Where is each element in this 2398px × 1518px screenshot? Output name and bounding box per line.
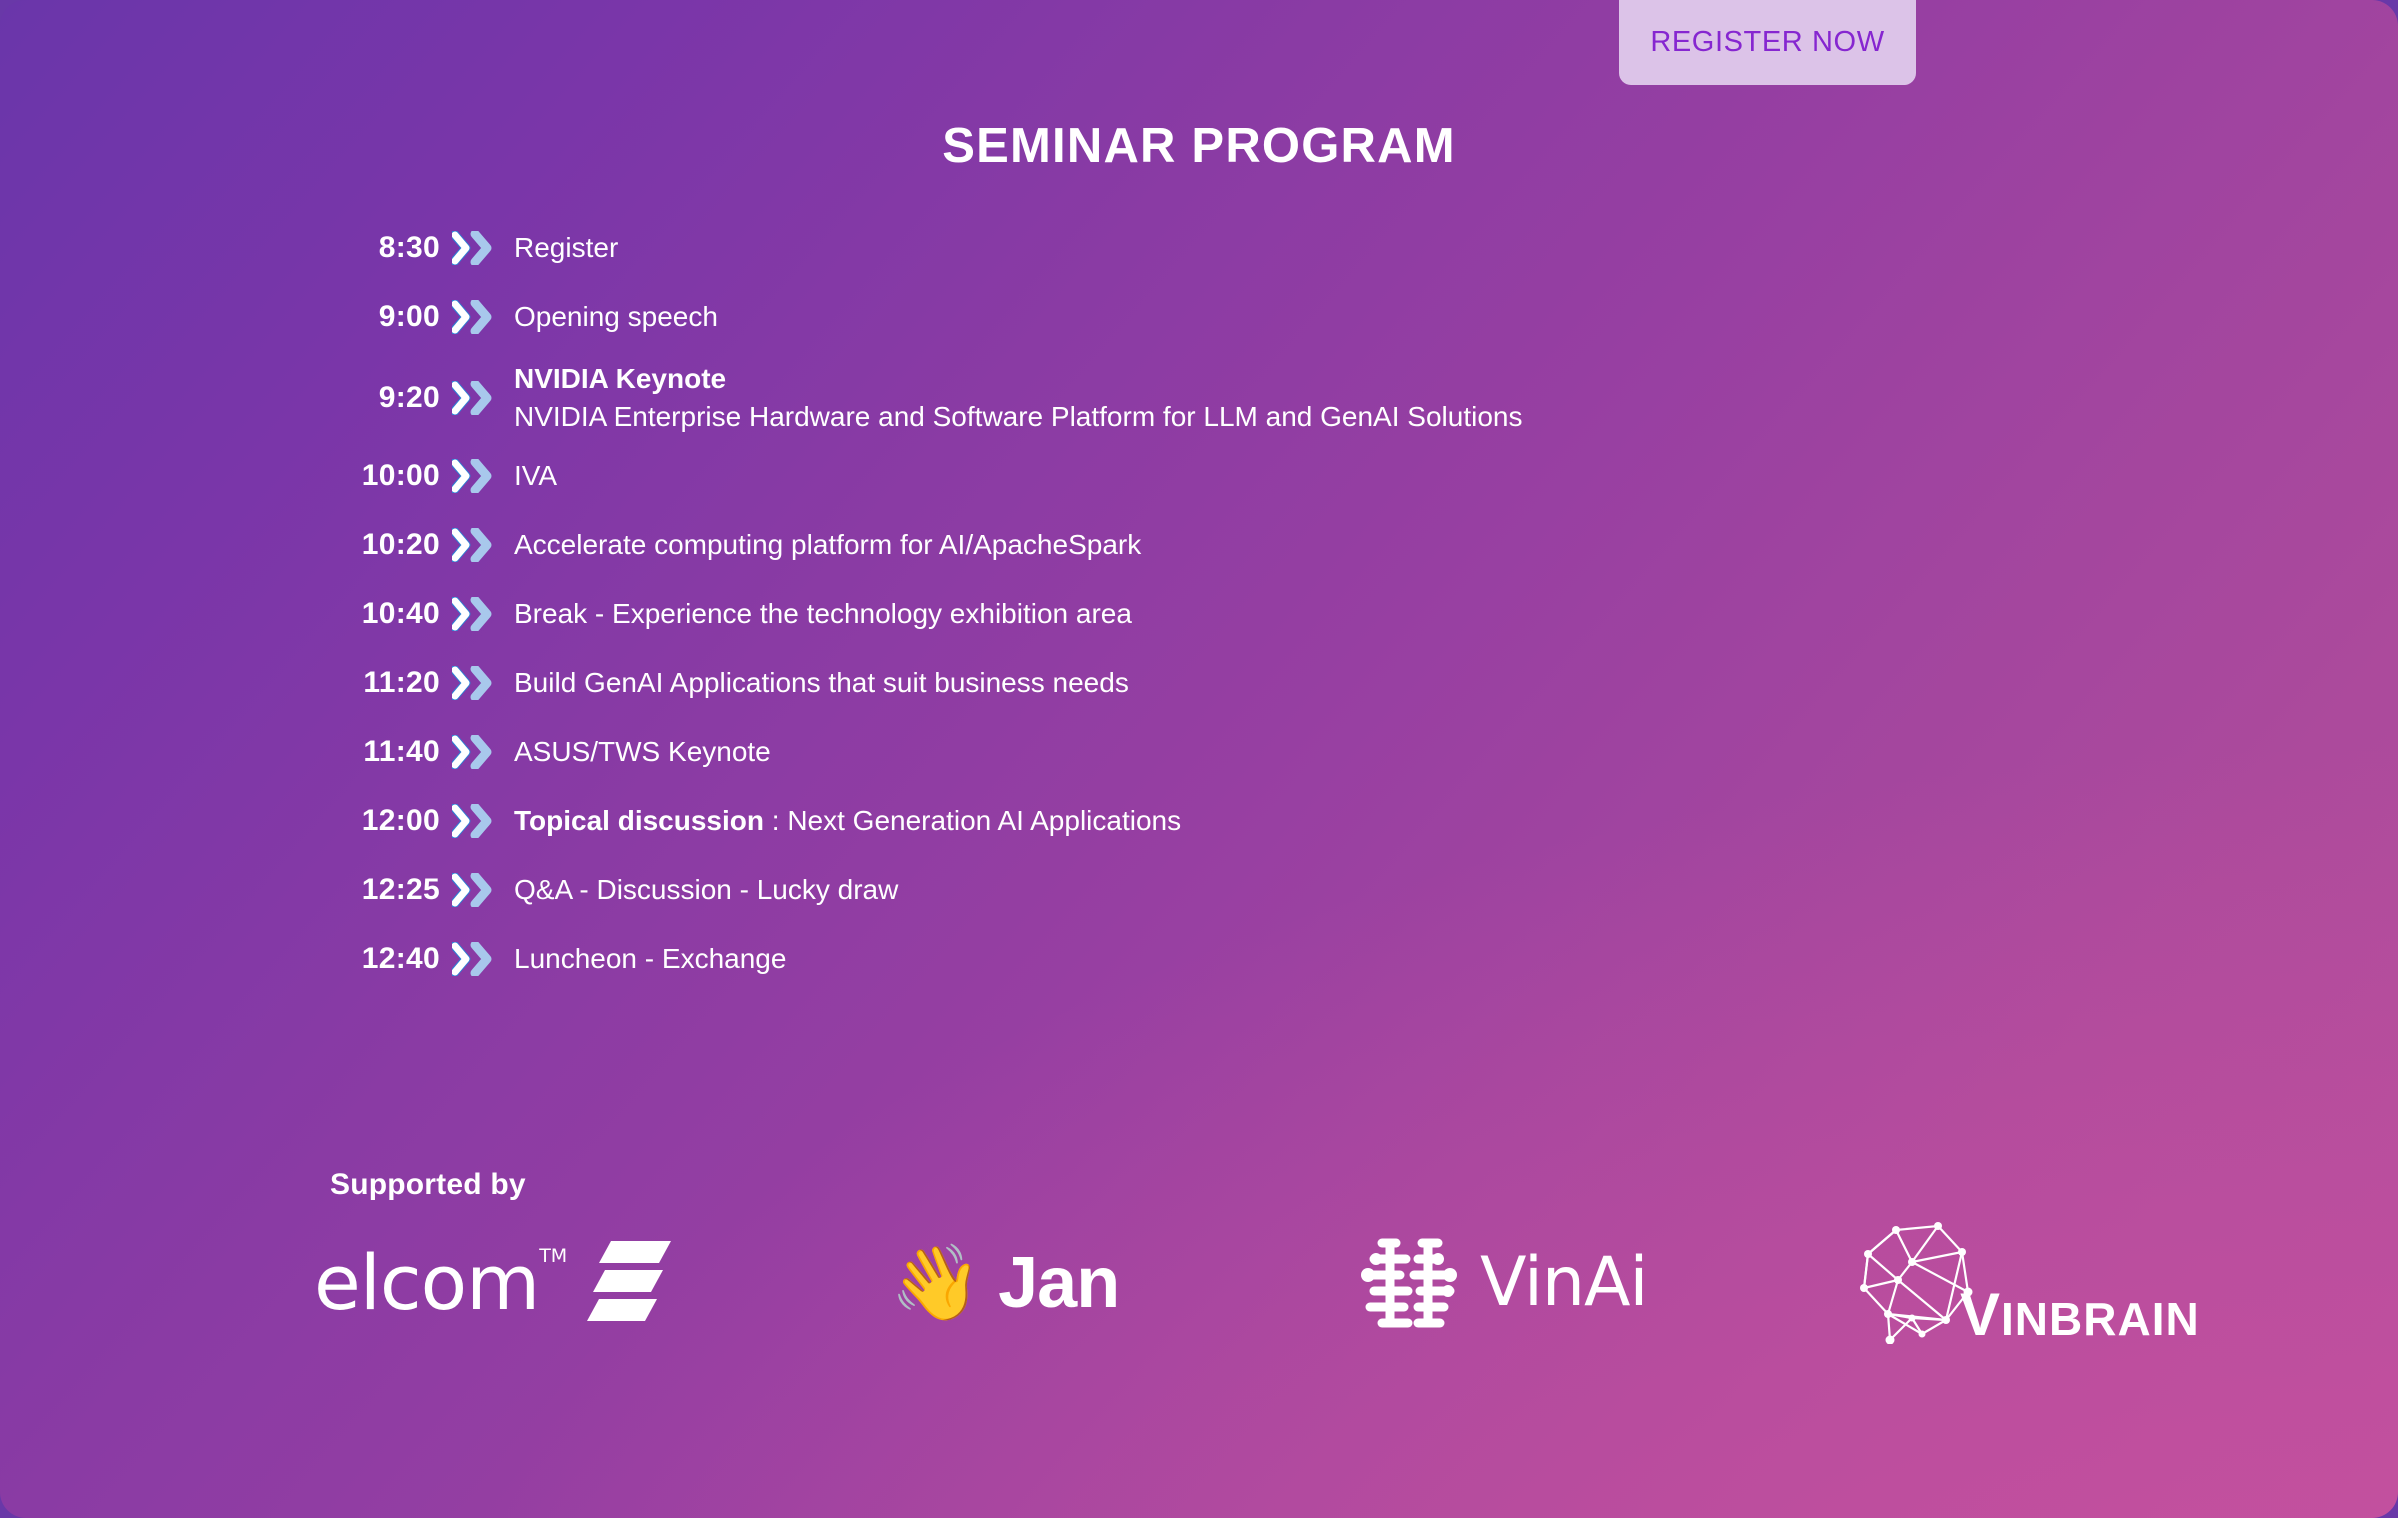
double-chevron-icon (440, 942, 510, 976)
row-text: IVA (510, 457, 1930, 495)
double-chevron-icon (440, 528, 510, 562)
row-time: 11:20 (330, 666, 440, 700)
program-row: 10:40 Break - Experience the technology … (330, 588, 1930, 640)
row-text: Build GenAI Applications that suit busin… (510, 664, 1930, 702)
program-row: 12:25 Q&A - Discussion - Lucky draw (330, 864, 1930, 916)
elcom-e-mark-icon (585, 1239, 671, 1328)
trademark-icon: TM (539, 1247, 567, 1266)
row-text: NVIDIA Keynote NVIDIA Enterprise Hardwar… (510, 360, 1930, 435)
program-row: 9:20 NVIDIA Keynote NVIDIA Enterprise Ha… (330, 360, 1930, 436)
row-text: Q&A - Discussion - Lucky draw (510, 871, 1930, 909)
double-chevron-icon (440, 381, 510, 415)
row-text: Topical discussion : Next Generation AI … (510, 802, 1930, 840)
double-chevron-icon (440, 459, 510, 493)
supported-by-label: Supported by (330, 1168, 526, 1202)
row-time: 12:40 (330, 942, 440, 976)
double-chevron-icon (440, 735, 510, 769)
program-row: 10:20 Accelerate computing platform for … (330, 519, 1930, 571)
row-time: 10:20 (330, 528, 440, 562)
sponsor-logo-vinbrain: VINBRAIN (1690, 1218, 2170, 1348)
sponsor-logo-strip: elcomTM 👋 Jan (300, 1218, 2320, 1348)
program-row: 11:40 ASUS/TWS Keynote (330, 726, 1930, 778)
elcom-wordmark: elcomTM (314, 1245, 539, 1321)
program-schedule-list: 8:30 Register 9:00 Opening speech 9:20 N… (330, 222, 1930, 1002)
vinbrain-wordmark: VINBRAIN (1960, 1285, 2200, 1345)
sponsor-logo-elcom: elcomTM (300, 1218, 770, 1348)
row-title: NVIDIA Keynote (514, 360, 1930, 398)
row-time: 11:40 (330, 735, 440, 769)
elcom-word-text: elcom (314, 1238, 539, 1327)
program-row: 8:30 Register (330, 222, 1930, 274)
vinai-wordmark: VinAi (1480, 1249, 1647, 1317)
row-text: ASUS/TWS Keynote (510, 733, 1930, 771)
row-text: Break - Experience the technology exhibi… (510, 595, 1930, 633)
row-text-rest: : Next Generation AI Applications (764, 805, 1181, 836)
program-row: 9:00 Opening speech (330, 291, 1930, 343)
register-now-button[interactable]: REGISTER NOW (1619, 0, 1916, 85)
program-row: 12:40 Luncheon - Exchange (330, 933, 1930, 985)
double-chevron-icon (440, 597, 510, 631)
page-title: SEMINAR PROGRAM (0, 118, 2398, 174)
row-time: 9:20 (330, 381, 440, 415)
row-time: 12:00 (330, 804, 440, 838)
double-chevron-icon (440, 873, 510, 907)
sponsor-logo-vinai: VinAi (1220, 1218, 1690, 1348)
jan-wordmark: Jan (998, 1247, 1119, 1319)
row-text-bold-prefix: Topical discussion (514, 805, 764, 836)
row-time: 10:00 (330, 459, 440, 493)
program-row: 10:00 IVA (330, 450, 1930, 502)
row-text: Opening speech (510, 298, 1930, 336)
vinbrain-rest: INBRAIN (2001, 1293, 2200, 1345)
row-subtitle: NVIDIA Enterprise Hardware and Software … (514, 398, 1930, 436)
row-time: 12:25 (330, 873, 440, 907)
program-row: 12:00 Topical discussion : Next Generati… (330, 795, 1930, 847)
waving-hand-icon: 👋 (890, 1246, 982, 1320)
vinai-network-mark-icon (1360, 1229, 1464, 1338)
double-chevron-icon (440, 804, 510, 838)
row-time: 8:30 (330, 231, 440, 265)
row-time: 9:00 (330, 300, 440, 334)
page-background: REGISTER NOW SEMINAR PROGRAM 8:30 Regist… (0, 0, 2398, 1518)
row-text: Luncheon - Exchange (510, 940, 1930, 978)
row-time: 10:40 (330, 597, 440, 631)
row-text: Accelerate computing platform for AI/Apa… (510, 526, 1930, 564)
double-chevron-icon (440, 231, 510, 265)
double-chevron-icon (440, 300, 510, 334)
vinbrain-cap: V (1960, 1281, 2001, 1348)
row-text: Register (510, 229, 1930, 267)
program-row: 11:20 Build GenAI Applications that suit… (330, 657, 1930, 709)
sponsor-logo-jan: 👋 Jan (770, 1218, 1220, 1348)
double-chevron-icon (440, 666, 510, 700)
